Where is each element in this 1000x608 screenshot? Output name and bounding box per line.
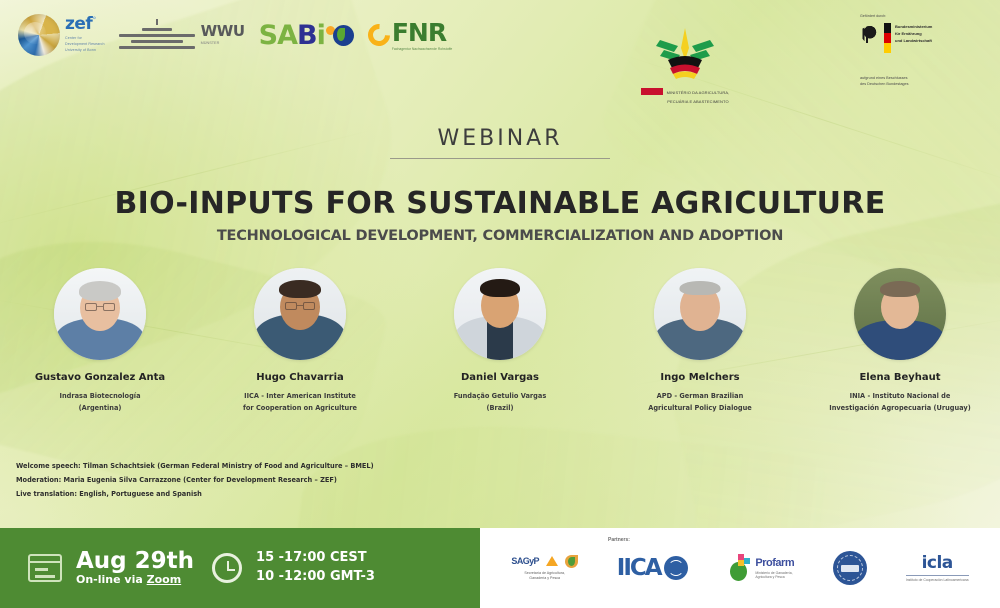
sabio-logo: SABi [259, 22, 354, 49]
speaker-org-line-1: IICA - Inter American Institute [204, 390, 396, 402]
bmel-line-1: Bundesministerium [895, 23, 932, 30]
globe-icon [18, 14, 60, 56]
title-divider [390, 158, 610, 159]
moderation-note: Moderation: Maria Eugenia Silva Carrazzo… [16, 473, 374, 487]
event-notes: Welcome speech: Tilman Schachtsiek (Germ… [16, 459, 374, 502]
bmel-line-3: und Landwirtschaft [895, 37, 932, 44]
speaker-name: Gustavo Gonzalez Anta [4, 372, 196, 385]
partners-label: Partners: [608, 537, 630, 543]
avatar [54, 268, 146, 360]
speaker-name: Ingo Melchers [604, 372, 796, 385]
zef-tagline: Center for Development Research Universi… [65, 36, 105, 54]
avatar [654, 268, 746, 360]
page-kicker: WEBINAR [0, 126, 1000, 151]
speaker-org-line-2: Agricultural Policy Dialogue [604, 402, 796, 414]
welcome-speech-note: Welcome speech: Tilman Schachtsiek (Germ… [16, 459, 374, 473]
sponsor-logo-row: zef° Center for Development Research Uni… [18, 14, 452, 56]
mapa-line-2: PECUÁRIA E ABASTECIMENTO [667, 99, 730, 105]
avatar [854, 268, 946, 360]
speaker-org-line-2: Investigación Agropecuaria (Uruguay) [804, 402, 996, 414]
wwu-logo: WWU MÜNSTER [119, 19, 245, 52]
fnr-tagline: Fachagentur Nachwachsende Rohstoffe [392, 47, 452, 51]
wwu-wordmark: WWU [201, 24, 245, 39]
inia-drop-icon [726, 554, 750, 582]
speaker-org-line-1: INIA - Instituto Nacional de [804, 390, 996, 402]
inia-wordmark: Profarm [755, 558, 794, 569]
institutional-seal-icon [833, 551, 867, 585]
partner-logo-row: Partners: SAGyP Secretaría de Agricultur… [480, 528, 1000, 608]
footer-bar: Aug 29th On-line via Zoom 15 -17:00 CEST… [0, 528, 1000, 608]
speaker-card: Daniel Vargas Fundação Getulio Vargas (B… [400, 268, 600, 414]
speaker-card: Hugo Chavarria IICA - Inter American Ins… [200, 268, 400, 414]
mapa-logo: MINISTÉRIO DA AGRICULTURA, PECUÁRIA E AB… [640, 26, 730, 106]
calendar-icon [28, 554, 62, 582]
page-title: BIO-INPUTS FOR SUSTAINABLE AGRICULTURE [0, 186, 1000, 221]
event-time-cest: 15 -17:00 CEST [256, 549, 375, 568]
sabio-wordmark-sa: SA [259, 22, 297, 49]
event-mode: On-line via Zoom [76, 573, 194, 586]
zef-logo: zef° Center for Development Research Uni… [18, 14, 105, 56]
sagyp-triangle-icon [546, 556, 558, 566]
translation-note: Live translation: English, Portuguese an… [16, 487, 374, 501]
german-flag-icon [884, 23, 891, 53]
fnr-arc-icon [363, 19, 394, 50]
crest-icon [119, 19, 195, 52]
icla-divider [906, 575, 969, 576]
sagyp-wordmark: SAGyP [511, 557, 539, 566]
speaker-card: Gustavo Gonzalez Anta Indrasa Biotecnolo… [0, 268, 200, 414]
sabio-leaf-circle-icon [333, 25, 354, 46]
iica-logo-icon: IICA [617, 556, 688, 580]
zoom-link[interactable]: Zoom [147, 573, 182, 586]
speaker-name: Elena Beyhaut [804, 372, 996, 385]
page-subtitle: TECHNOLOGICAL DEVELOPMENT, COMMERCIALIZA… [0, 228, 1000, 244]
speaker-name: Daniel Vargas [404, 372, 596, 385]
sabio-wordmark-b: B [297, 22, 317, 49]
event-date: Aug 29th [76, 549, 194, 573]
avatar [454, 268, 546, 360]
clock-icon [212, 553, 242, 583]
wwu-tagline: MÜNSTER [201, 41, 245, 47]
sagyp-logo-icon: SAGyP Secretaría de Agricultura, Ganader… [511, 555, 578, 582]
german-eagle-icon [860, 23, 880, 49]
sagyp-leaf-icon [565, 555, 578, 568]
sagyp-tagline: Secretaría de Agricultura, Ganadería y P… [524, 571, 565, 582]
event-time-gmt: 10 -12:00 GMT-3 [256, 568, 375, 587]
iica-wordmark: IICA [617, 557, 661, 580]
bmel-bundestag-note: aufgrund eines Beschlusses des Deutschen… [860, 75, 990, 87]
inia-logo-icon: Profarm Ministerio de Ganadería, Agricul… [726, 554, 794, 582]
footer-datetime-panel: Aug 29th On-line via Zoom 15 -17:00 CEST… [0, 528, 480, 608]
fnr-wordmark: FNR [392, 20, 452, 45]
fnr-logo: FNR Fachagentur Nachwachsende Rohstoffe [368, 20, 452, 51]
speaker-list: Gustavo Gonzalez Anta Indrasa Biotecnolo… [0, 268, 1000, 414]
bmel-logo: Gefördert durch: Bundesministerium für E… [860, 14, 990, 87]
speaker-name: Hugo Chavarria [204, 372, 396, 385]
speaker-org-line-1: Indrasa Biotecnología [4, 390, 196, 402]
bmel-line-2: für Ernährung [895, 30, 932, 37]
brazil-agriculture-crest-icon [640, 26, 730, 82]
avatar [254, 268, 346, 360]
icla-wordmark: icla [906, 555, 969, 572]
speaker-org-line-2: (Brazil) [404, 402, 596, 414]
speaker-org-line-2: for Cooperation on Agriculture [204, 402, 396, 414]
mapa-line-1: MINISTÉRIO DA AGRICULTURA, [667, 90, 730, 96]
speaker-org-line-1: APD - German Brazilian [604, 390, 796, 402]
icla-logo-icon: icla Instituto de Cooperación Latinoamer… [906, 555, 969, 582]
speaker-org-line-1: Fundação Getulio Vargas [404, 390, 596, 402]
sabio-wordmark-i: i [317, 22, 325, 49]
mapa-badge [641, 88, 663, 95]
inia-tagline: Ministerio de Ganadería, Agricultura y P… [755, 571, 794, 579]
zef-wordmark: zef° [65, 16, 105, 33]
bmel-funding-label: Gefördert durch: [860, 14, 990, 18]
globe-icon [664, 556, 688, 580]
icla-tagline: Instituto de Cooperación Latinoamericana [906, 578, 969, 582]
event-mode-prefix: On-line via [76, 573, 147, 586]
speaker-card: Ingo Melchers APD - German Brazilian Agr… [600, 268, 800, 414]
speaker-org-line-2: (Argentina) [4, 402, 196, 414]
speaker-card: Elena Beyhaut INIA - Instituto Nacional … [800, 268, 1000, 414]
